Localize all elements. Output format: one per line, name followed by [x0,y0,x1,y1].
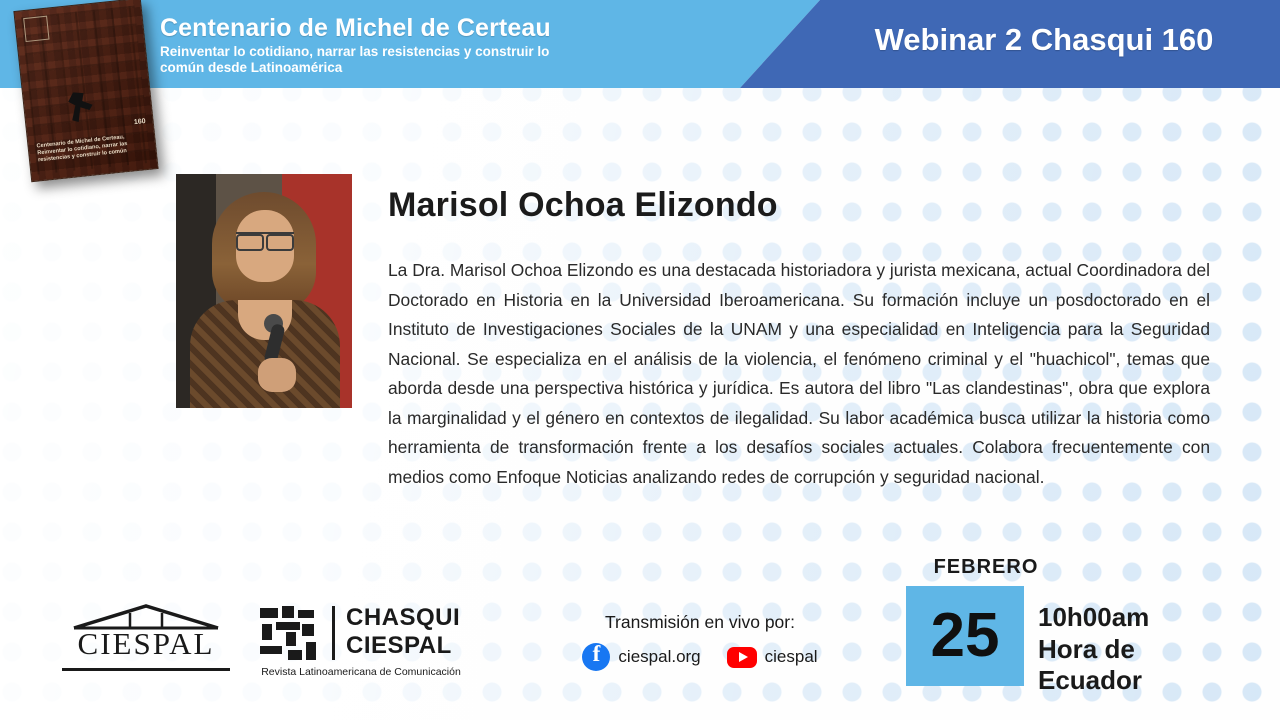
magazine-cover-image: 160 Centenario de Michel de Certeau, Rei… [13,0,158,182]
date-day-box: 25 [906,586,1024,686]
event-timezone: Hora de Ecuador [1038,634,1246,696]
date-month: FEBRERO [886,556,1086,579]
broadcast-block: Transmisión en vivo por: ciespal.org cie… [540,612,860,671]
photo-hand [258,358,296,392]
facebook-link[interactable]: ciespal.org [582,643,700,671]
chasqui-glyph-icon [256,602,320,666]
date-block: FEBRERO 25 10h00am Hora de Ecuador [886,556,1246,696]
glasses-icon [236,232,294,247]
ciespal-wordmark: CIESPAL [56,626,236,662]
book-cover-art: 160 Centenario de Michel de Certeau, Rei… [13,0,158,182]
chasqui-logo: CHASQUI CIESPAL Revista Latinoamericana … [256,600,466,686]
book-issue-number: 160 [134,118,146,126]
book-logo-mark [23,16,49,42]
ciespal-logo: CIESPAL [56,602,236,680]
header-banner: Centenario de Michel de Certeau Reinvent… [0,0,1280,88]
youtube-icon [727,647,757,668]
chasqui-wordmark-line1: CHASQUI [346,604,460,632]
social-links-row: ciespal.org ciespal [540,643,860,671]
webinar-label: Webinar 2 Chasqui 160 [824,22,1264,58]
facebook-icon [582,643,610,671]
event-title: Centenario de Michel de Certeau [160,14,680,43]
chasqui-wordmark-line2: CIESPAL [346,632,452,660]
chasqui-tagline: Revista Latinoamericana de Comunicación [256,666,466,678]
youtube-handle: ciespal [765,647,818,667]
speaker-bio: La Dra. Marisol Ochoa Elizondo es una de… [388,256,1210,492]
facebook-handle: ciespal.org [618,647,700,667]
youtube-link[interactable]: ciespal [727,647,818,668]
broadcast-label: Transmisión en vivo por: [540,612,860,633]
speaker-photo [176,174,352,408]
ciespal-underline [62,668,230,671]
chasqui-divider [332,606,335,660]
event-time: 10h00am [1038,602,1149,633]
event-subtitle: Reinventar lo cotidiano, narrar las resi… [160,44,560,76]
date-day: 25 [931,605,1000,667]
speaker-name: Marisol Ochoa Elizondo [388,186,1228,225]
